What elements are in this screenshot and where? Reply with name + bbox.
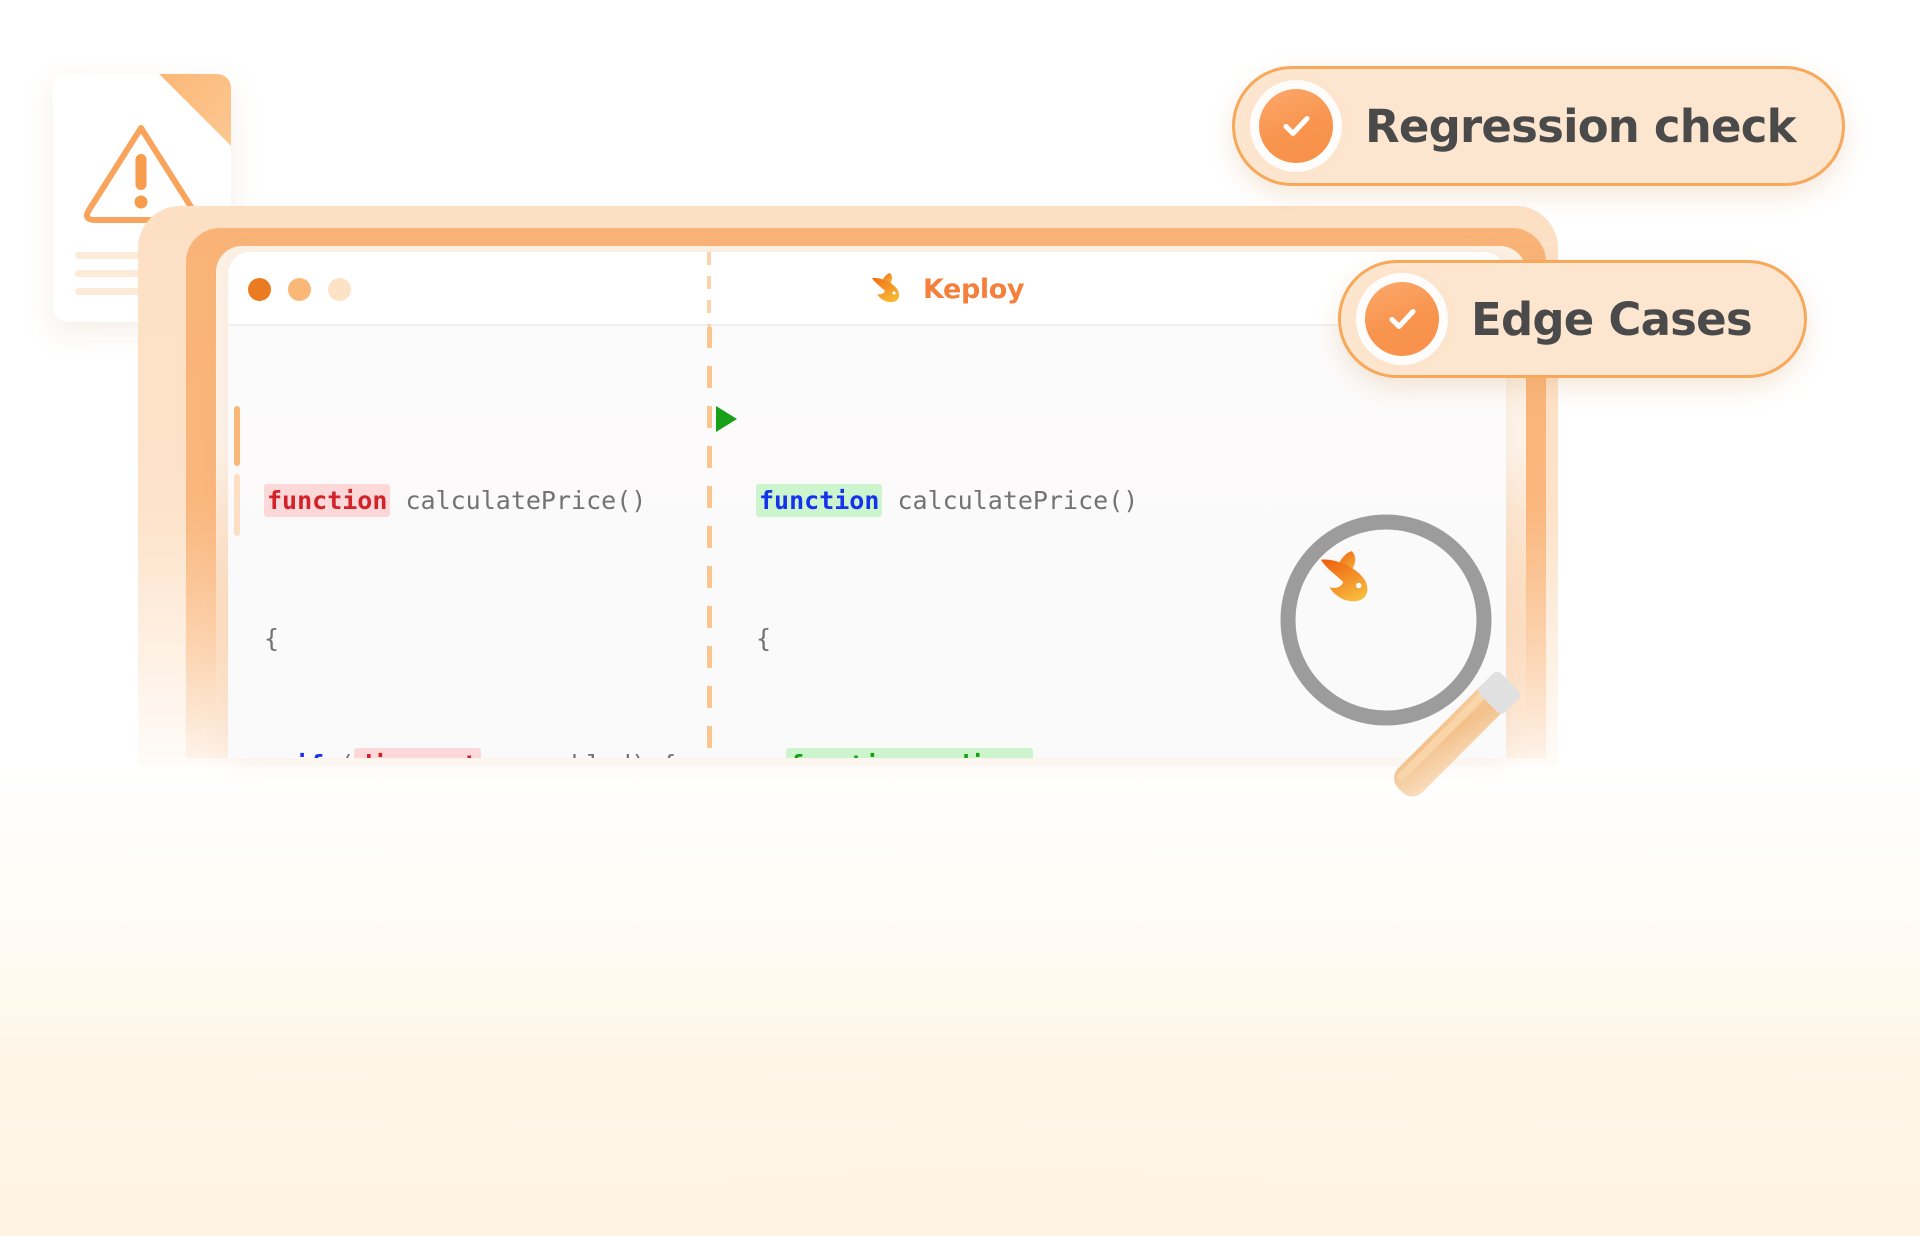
magnifying-glass-icon <box>1268 512 1688 812</box>
badge-edge-cases[interactable]: Edge Cases <box>1338 260 1807 378</box>
badge-regression-check[interactable]: Regression check <box>1232 66 1845 186</box>
titlebar-divider <box>707 252 711 326</box>
code-line: { <box>264 618 676 660</box>
gutter-marker <box>234 406 240 466</box>
diff-split-divider <box>707 326 712 758</box>
code-line: if (discount = enabled) { <box>264 744 676 758</box>
close-button[interactable] <box>248 278 271 301</box>
code-line: { <box>756 618 1138 660</box>
badge-label: Regression check <box>1365 100 1796 153</box>
check-circle-icon <box>1259 89 1333 163</box>
code-line: function calculatePrice() <box>756 480 1138 522</box>
background-gradient-band <box>0 955 1920 1236</box>
check-circle-icon <box>1365 282 1439 356</box>
change-gutter <box>234 406 240 536</box>
keploy-brand: Keploy <box>868 270 1024 308</box>
code-line: function calculatePrice() <box>264 480 676 522</box>
maximize-button[interactable] <box>328 278 351 301</box>
code-block-before[interactable]: function calculatePrice() { if (discount… <box>264 396 676 758</box>
code-block-after[interactable]: function calculatePrice() { function = d… <box>756 396 1138 758</box>
window-titlebar: Keploy <box>228 252 1506 326</box>
run-play-icon[interactable] <box>716 406 737 432</box>
minimize-button[interactable] <box>288 278 311 301</box>
gutter-marker <box>234 474 240 536</box>
brand-name: Keploy <box>923 274 1024 305</box>
traffic-lights <box>248 278 351 301</box>
badge-label: Edge Cases <box>1471 293 1752 346</box>
code-line: function = disco <box>756 744 1138 758</box>
keploy-rabbit-logo-icon <box>868 270 910 308</box>
